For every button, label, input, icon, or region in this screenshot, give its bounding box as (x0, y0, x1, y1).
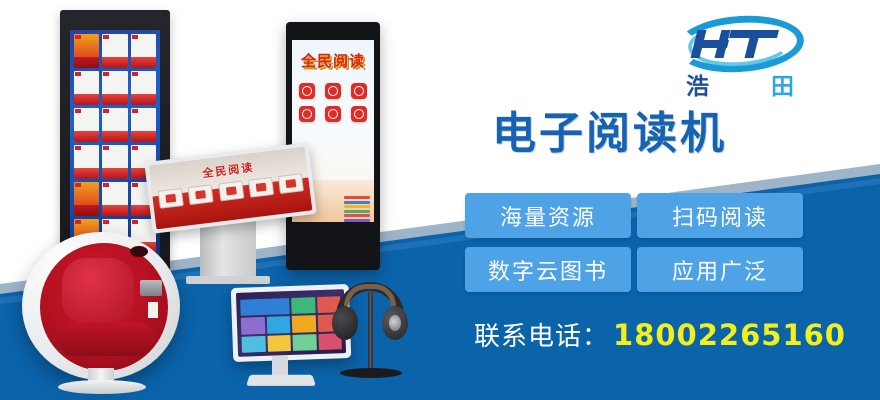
feature-tag-list: 海量资源 扫码阅读 数字云图书 应用广泛 (465, 193, 803, 292)
promo-banner: 全民阅读 全民阅读 (0, 0, 880, 400)
headphone-earcup-right (382, 306, 408, 340)
ball-chair-backrest (62, 258, 134, 324)
book-wall-screen (70, 30, 160, 265)
ball-chair-label-tag (148, 302, 158, 318)
logo-chinese-name: 浩 田 (686, 70, 794, 102)
contact-phone-label: 联系电话： (474, 316, 609, 353)
headphone-earcup-left (332, 306, 358, 340)
touch-table-screen-title: 全民阅读 (202, 159, 256, 181)
ball-chair-cushion (58, 322, 154, 356)
feature-tag-scan-to-read[interactable]: 扫码阅读 (637, 193, 803, 238)
tablet-stand-neck (272, 356, 288, 376)
touch-table-leg (200, 218, 256, 278)
ball-chair-speaker (130, 246, 148, 257)
feature-tag-digital-cloud-library[interactable]: 数字云图书 (465, 247, 631, 292)
tablet-stand-foot (246, 375, 316, 386)
ball-chair-base (58, 380, 146, 394)
page-title: 电子阅读机 (492, 112, 727, 156)
headphone-stand-pole (368, 292, 373, 370)
haotian-logo: 浩 田 (672, 12, 808, 106)
contact-phone-number[interactable]: 18002265160 (613, 318, 846, 352)
logo-char-hao: 浩 (686, 75, 709, 98)
feature-tag-wide-application[interactable]: 应用广泛 (637, 247, 803, 292)
contact-phone: 联系电话： 18002265160 (474, 316, 846, 353)
logo-char-tian: 田 (771, 75, 794, 98)
kiosk-icon-grid (296, 83, 370, 122)
logo-ht-monogram-icon (692, 26, 784, 62)
kiosk-screen-title: 全民阅读 (292, 50, 374, 71)
touch-table-icon-row (158, 173, 304, 209)
tablet-screen (236, 289, 346, 357)
touch-table-screen: 全民阅读 (149, 147, 313, 230)
headphone-stand-base (340, 368, 402, 378)
ball-chair-control-panel (140, 280, 162, 296)
touch-table-base (186, 276, 270, 284)
kiosk-book-stack-art (344, 196, 370, 220)
feature-tag-massive-resources[interactable]: 海量资源 (465, 193, 631, 238)
